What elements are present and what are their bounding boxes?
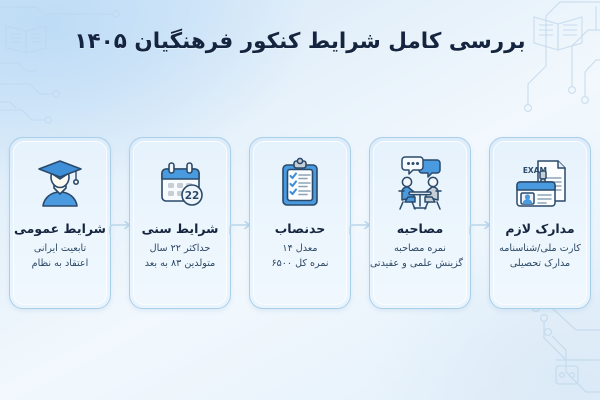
card-frame: مصاحبه نمره مصاحبه گزینش علمی و عقیدتی <box>369 137 471 309</box>
card-title: مدارک لازم <box>505 221 574 236</box>
step-card-minimum-score[interactable]: حدنصاب معدل ۱۴ نمره کل ۶۵۰۰ <box>240 137 360 313</box>
step-card-general-conditions[interactable]: شرایط عمومی تابعیت ایرانی اعتقاد به نظام <box>0 137 120 313</box>
card-title: شرایط سنی <box>142 221 219 236</box>
card-frame: 22 شرایط سنی حداکثر ۲۲ سال متولدین ۸۳ به… <box>129 137 231 309</box>
card-detail-line: تابعیت ایرانی <box>17 241 103 256</box>
card-detail-line: معدل ۱۴ <box>257 241 343 256</box>
card-body: شرایط عمومی تابعیت ایرانی اعتقاد به نظام <box>13 141 107 305</box>
card-detail-line: متولدین ۸۳ به بعد <box>137 256 223 271</box>
infographic-poster: بررسی کامل شرایط کنکور فرهنگیان ۱۴۰۵ <box>0 0 600 400</box>
card-detail-line: حداکثر ۲۲ سال <box>137 241 223 256</box>
card-frame: EXAM <box>489 137 591 309</box>
page-title-text: بررسی کامل شرایط کنکور فرهنگیان ۱۴۰۵ <box>0 26 600 57</box>
card-body: مصاحبه نمره مصاحبه گزینش علمی و عقیدتی <box>373 141 467 305</box>
card-detail-line: نمره کل ۶۵۰۰ <box>257 256 343 271</box>
interview-icon <box>389 152 451 214</box>
id-card-document-icon: EXAM <box>509 152 571 214</box>
circuit-lines-bottom-right <box>533 305 600 392</box>
circuit-lines-left <box>0 7 119 123</box>
card-detail-lines: معدل ۱۴ نمره کل ۶۵۰۰ <box>254 241 346 271</box>
card-title: حدنصاب <box>275 221 326 236</box>
card-body: حدنصاب معدل ۱۴ نمره کل ۶۵۰۰ <box>253 141 347 305</box>
card-detail-line: گزینش علمی و عقیدتی <box>377 256 463 271</box>
step-card-required-documents[interactable]: EXAM <box>480 137 600 313</box>
clipboard-checklist-icon <box>269 152 331 214</box>
card-detail-lines: تابعیت ایرانی اعتقاد به نظام <box>14 241 106 271</box>
card-body: 22 شرایط سنی حداکثر ۲۲ سال متولدین ۸۳ به… <box>133 141 227 305</box>
graduate-icon <box>29 152 91 214</box>
card-title: شرایط عمومی <box>14 221 106 236</box>
page-title: بررسی کامل شرایط کنکور فرهنگیان ۱۴۰۵ <box>0 26 600 57</box>
card-detail-line: اعتقاد به نظام <box>17 256 103 271</box>
card-detail-line: مدارک تحصیلی <box>497 256 583 271</box>
calendar-icon: 22 <box>149 152 211 214</box>
step-card-interview[interactable]: مصاحبه نمره مصاحبه گزینش علمی و عقیدتی <box>360 137 480 313</box>
card-detail-line: کارت ملی/شناسنامه <box>497 241 583 256</box>
card-detail-lines: حداکثر ۲۲ سال متولدین ۸۳ به بعد <box>134 241 226 271</box>
steps-row: شرایط عمومی تابعیت ایرانی اعتقاد به نظام <box>0 137 600 313</box>
calendar-badge-number: 22 <box>185 190 200 202</box>
card-title: مصاحبه <box>397 221 443 236</box>
card-detail-line: نمره مصاحبه <box>377 241 463 256</box>
card-body: EXAM <box>493 141 587 305</box>
card-frame: حدنصاب معدل ۱۴ نمره کل ۶۵۰۰ <box>249 137 351 309</box>
card-frame: شرایط عمومی تابعیت ایرانی اعتقاد به نظام <box>9 137 111 309</box>
step-card-age-conditions[interactable]: 22 شرایط سنی حداکثر ۲۲ سال متولدین ۸۳ به… <box>120 137 240 313</box>
card-detail-lines: کارت ملی/شناسنامه مدارک تحصیلی <box>494 241 586 271</box>
card-detail-lines: نمره مصاحبه گزینش علمی و عقیدتی <box>374 241 466 271</box>
